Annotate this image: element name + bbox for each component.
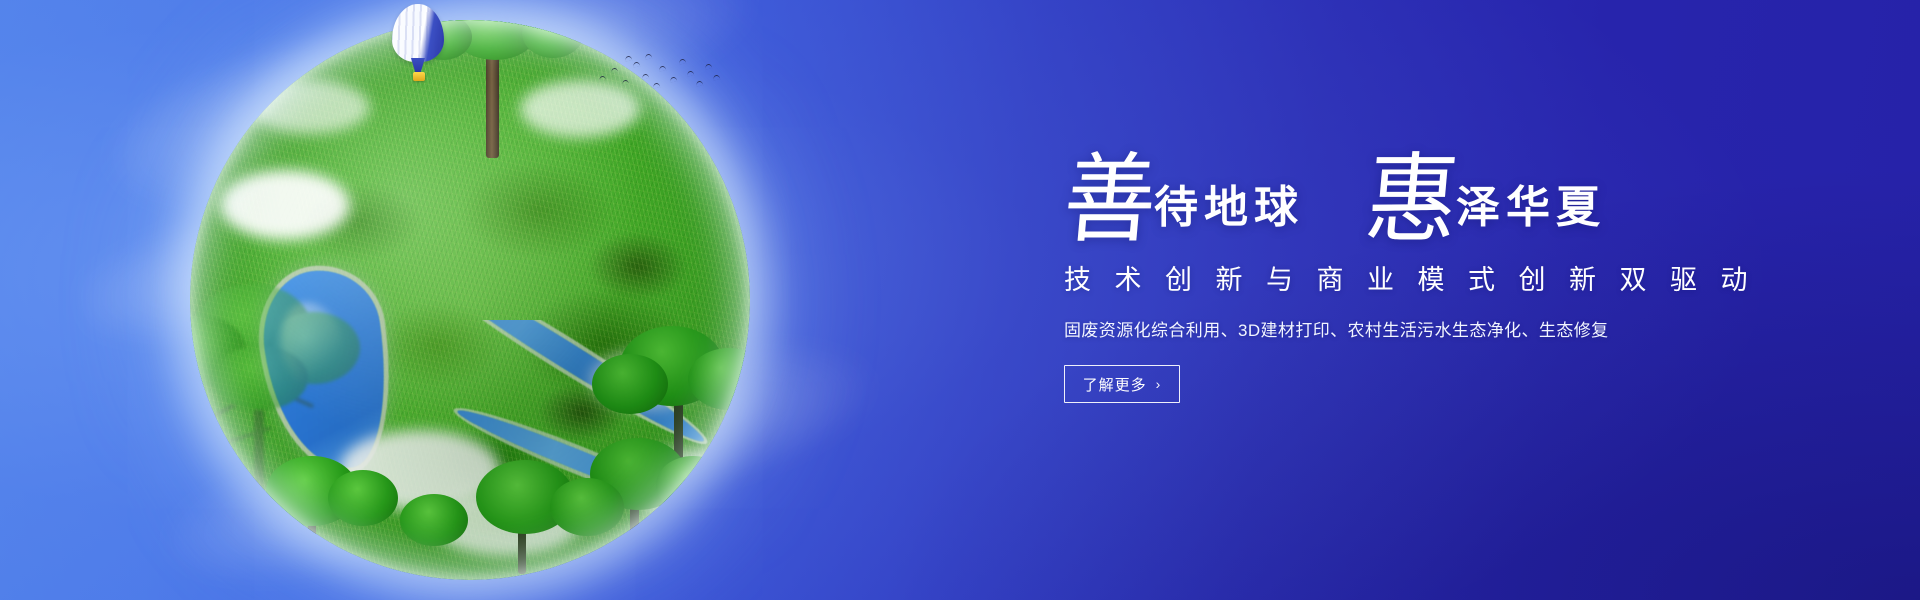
hero-banner: 善 待地球 惠 泽华夏 技 术 创 新 与 商 业 模 式 创 新 双 驱 动 … bbox=[0, 0, 1920, 600]
chevron-right-icon: › bbox=[1156, 377, 1162, 391]
bird-flock-icon bbox=[595, 50, 725, 94]
headline-char-hui: 惠 bbox=[1362, 154, 1464, 247]
tiny-planet-globe bbox=[190, 20, 750, 580]
hero-subtitle: 技 术 创 新 与 商 业 模 式 创 新 双 驱 动 bbox=[1064, 258, 1824, 297]
cloud-icon bbox=[250, 80, 370, 134]
headline-char-shan: 善 bbox=[1060, 154, 1162, 247]
headline-text-zehuaxia: 泽华夏 bbox=[1456, 186, 1606, 230]
hero-description: 固废资源化综合利用、3D建材打印、农村生活污水生态净化、生态修复 bbox=[1064, 316, 1824, 341]
headline-text-daidiqiu: 待地球 bbox=[1154, 186, 1304, 230]
learn-more-label: 了解更多 bbox=[1083, 374, 1147, 395]
hero-copy-block: 善 待地球 惠 泽华夏 技 术 创 新 与 商 业 模 式 创 新 双 驱 动 … bbox=[1064, 132, 1824, 403]
page-title: 善 待地球 惠 泽华夏 bbox=[1064, 132, 1824, 244]
learn-more-button[interactable]: 了解更多 › bbox=[1064, 365, 1180, 403]
hot-air-balloon-icon bbox=[392, 4, 444, 82]
tree-icon bbox=[250, 450, 690, 580]
cloud-icon bbox=[220, 170, 350, 240]
globe-surface bbox=[190, 20, 750, 580]
